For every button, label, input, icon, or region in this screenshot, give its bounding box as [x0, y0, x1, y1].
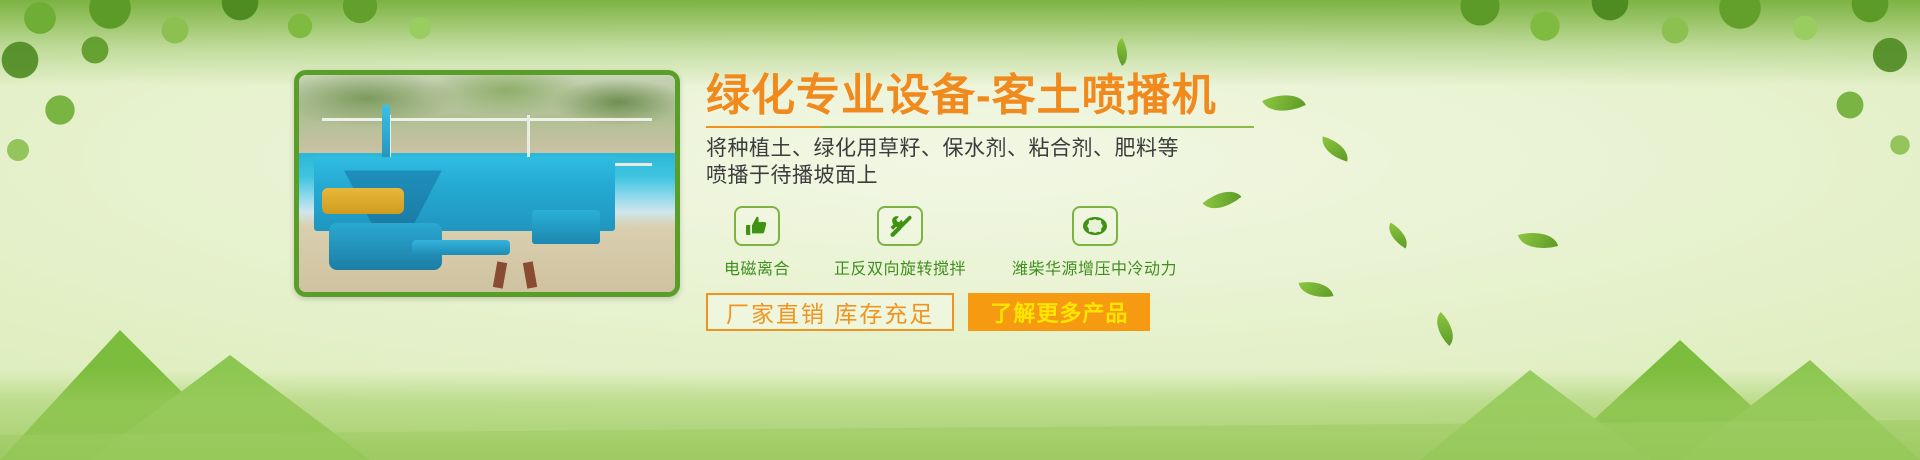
machine-support-leg — [522, 261, 536, 288]
feature-icon-frame — [1072, 206, 1118, 246]
machine-tank — [322, 188, 405, 214]
feature-label: 电磁离合 — [724, 255, 790, 279]
leaf-icon — [1110, 38, 1134, 66]
page-title: 绿化专业设备-客土喷播机 — [706, 72, 1406, 120]
grass-band-decoration — [0, 370, 1920, 460]
engine-gear-icon — [1081, 215, 1109, 237]
feature-item-weichai-power: 潍柴华源增压中冷动力 — [1012, 206, 1177, 279]
sales-highlight-badge: 厂家直销 库存充足 — [706, 293, 954, 331]
feature-label: 正反双向旋转搅拌 — [834, 255, 966, 279]
machine-support-leg — [492, 261, 506, 288]
product-photo — [294, 70, 680, 297]
leaf-icon — [1518, 226, 1558, 256]
subtitle: 将种植土、绿化用草籽、保水剂、粘合剂、肥料等 喷播于待播坡面上 — [706, 135, 1406, 190]
machine-pipe — [412, 240, 510, 255]
learn-more-button-label: 了解更多产品 — [990, 296, 1128, 328]
thumbs-up-icon — [744, 214, 770, 238]
feature-list: 电磁离合 正反双向旋转搅拌 — [706, 206, 1406, 279]
left-foliage-decoration — [0, 0, 300, 300]
subtitle-line-2: 喷播于待播坡面上 — [706, 162, 1406, 190]
feature-icon-frame — [734, 206, 780, 246]
learn-more-button[interactable]: 了解更多产品 — [968, 293, 1150, 331]
machine-control-box — [532, 210, 600, 245]
feature-label: 潍柴华源增压中冷动力 — [1012, 255, 1177, 279]
subtitle-line-1: 将种植土、绿化用草籽、保水剂、粘合剂、肥料等 — [706, 135, 1406, 163]
promo-banner: 绿化专业设备-客土喷播机 将种植土、绿化用草籽、保水剂、粘合剂、肥料等 喷播于待… — [0, 0, 1920, 460]
wrench-screwdriver-icon — [887, 214, 913, 238]
banner-content: 绿化专业设备-客土喷播机 将种植土、绿化用草籽、保水剂、粘合剂、肥料等 喷播于待… — [706, 72, 1406, 331]
feature-icon-frame — [877, 206, 923, 246]
title-divider — [706, 126, 1254, 128]
feature-item-electromagnetic-clutch: 电磁离合 — [724, 206, 790, 279]
right-foliage-decoration — [1600, 0, 1920, 300]
cta-row: 厂家直销 库存充足 了解更多产品 — [706, 293, 1406, 331]
product-photo-image — [299, 75, 675, 292]
sales-highlight-text: 厂家直销 库存充足 — [726, 295, 934, 329]
feature-item-bidirectional-mixing: 正反双向旋转搅拌 — [834, 206, 966, 279]
